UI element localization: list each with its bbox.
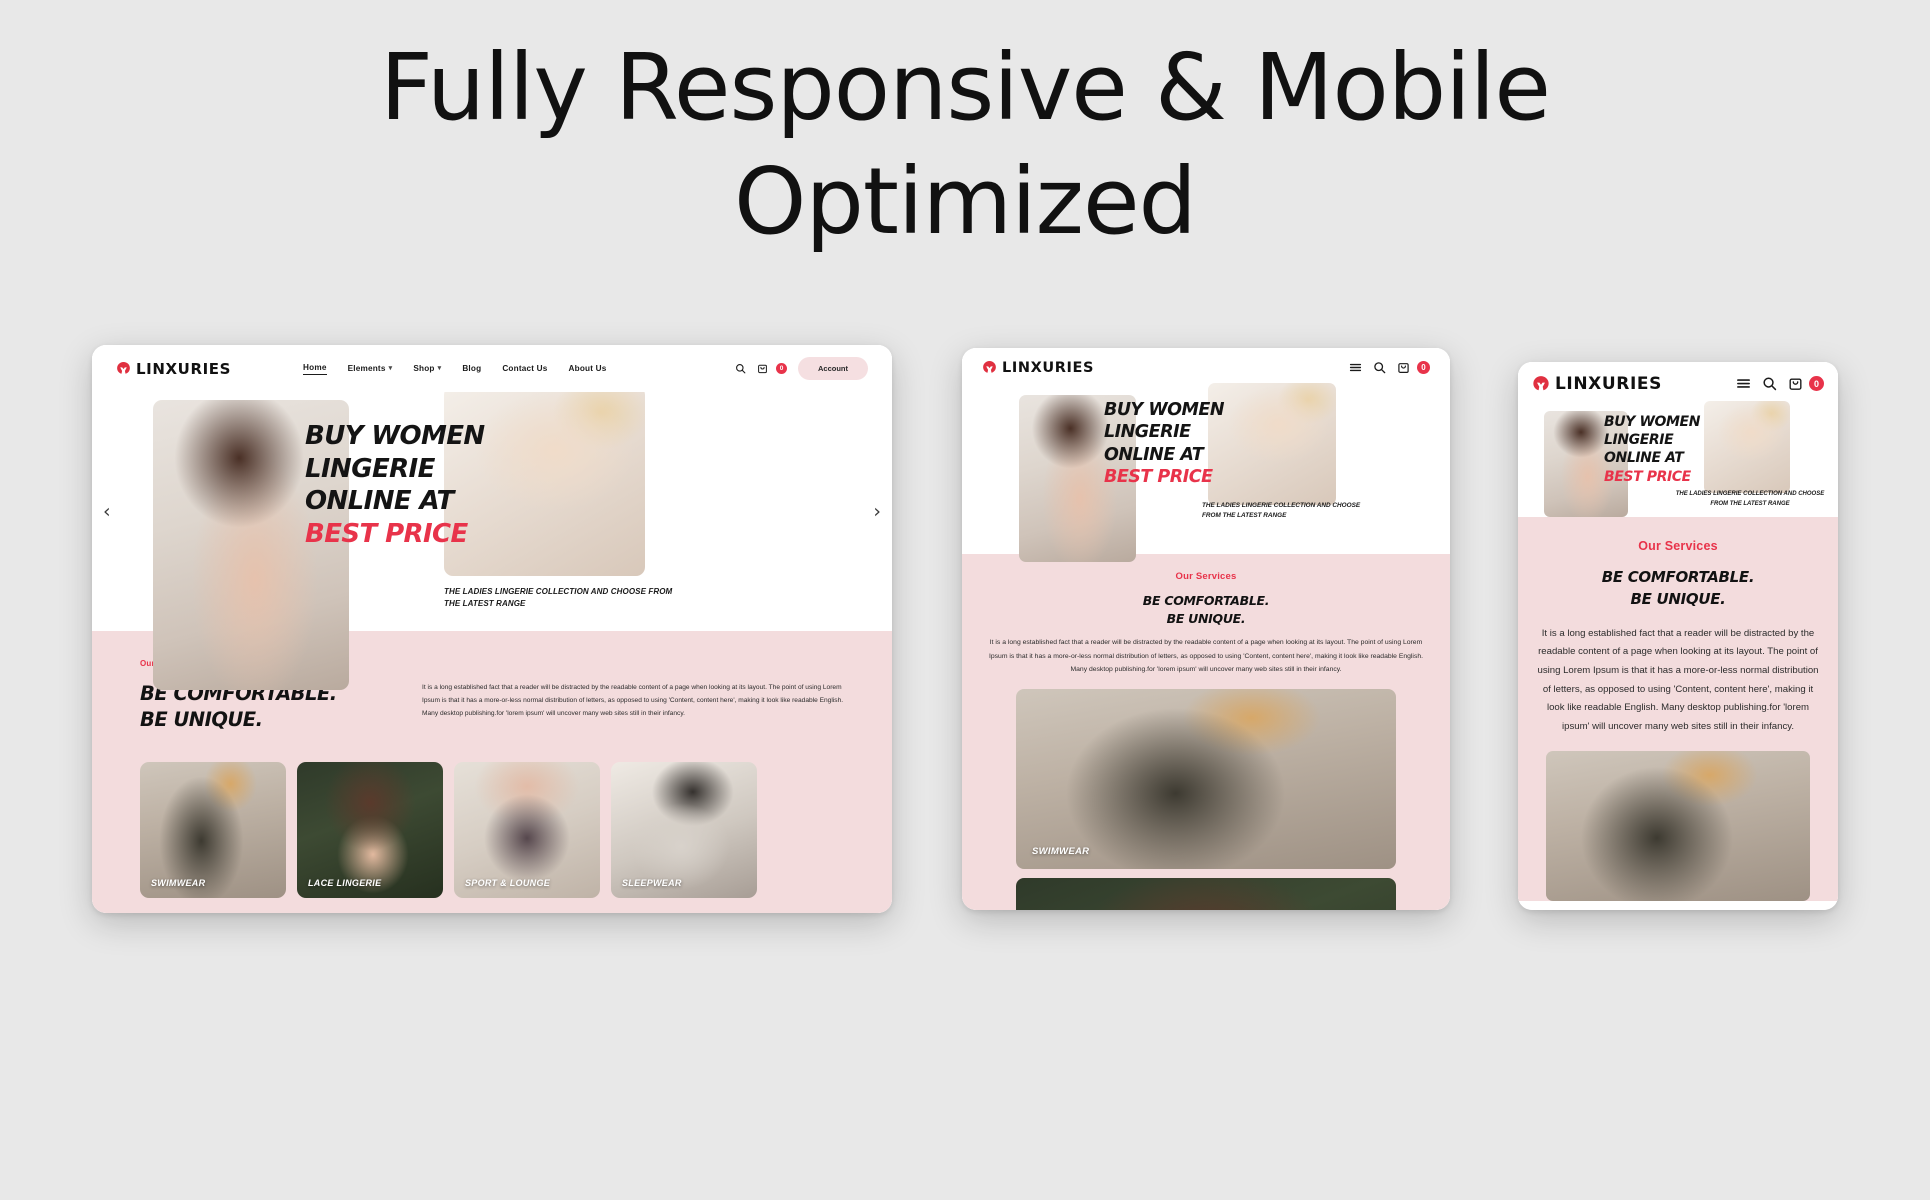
chevron-down-icon: ▾ (389, 365, 393, 372)
page-title-line-2: Optimized (0, 156, 1930, 248)
linxuries-mark-icon (982, 360, 997, 375)
services-heading-line-1: BE COMFORTABLE. (1143, 593, 1269, 608)
category-card-label: SWIMWEAR (151, 878, 205, 888)
search-icon[interactable] (735, 363, 746, 374)
search-icon[interactable] (1373, 361, 1386, 374)
page-title: Fully Responsive & Mobile Optimized (0, 42, 1930, 248)
hero-heading: BUY WOMEN LINGERIE ONLINE AT BEST PRICE (305, 420, 535, 550)
hero-line-2: LINGERIE (1104, 422, 1191, 442)
hero-line-3: ONLINE AT (1604, 450, 1683, 466)
cart-count-badge: 0 (1809, 376, 1824, 391)
category-card-lace-lingerie[interactable] (1016, 878, 1396, 910)
nav-item-blog[interactable]: Blog (462, 364, 481, 373)
mobile-navbar: LINXURIES 0 (1518, 362, 1838, 405)
brand-name: LINXURIES (1002, 360, 1094, 376)
mobile-mockup: LINXURIES 0 (1518, 362, 1838, 910)
hero-line-2: LINGERIE (1604, 432, 1673, 448)
services-heading-line-2: BE UNIQUE. (140, 708, 263, 731)
services-paragraph: It is a long established fact that a rea… (1534, 625, 1822, 737)
nav-item-contact-us[interactable]: Contact Us (502, 364, 547, 373)
category-card-label: SLEEPWEAR (622, 878, 682, 888)
nav-item-shop[interactable]: Shop▾ (413, 364, 441, 373)
category-card-swimwear[interactable]: SWIMWEAR (1016, 689, 1396, 869)
poster-canvas: Fully Responsive & Mobile Optimized LINX… (0, 0, 1930, 1200)
category-card-lace-lingerie[interactable]: LACE LINGERIE (297, 762, 443, 898)
hero-subtitle: THE LADIES LINGERIE COLLECTION AND CHOOS… (444, 586, 684, 611)
category-card-sleepwear[interactable]: SLEEPWEAR (611, 762, 757, 898)
category-card-label: SWIMWEAR (1032, 846, 1089, 857)
desktop-nav-menu: Home Elements▾ Shop▾ Blog Contact Us Abo… (303, 363, 606, 375)
services-paragraph: It is a long established fact that a rea… (422, 681, 844, 721)
category-card-label: LACE LINGERIE (308, 878, 381, 888)
tablet-nav-actions: 0 (1349, 361, 1430, 374)
hero-next-arrow[interactable]: › (873, 502, 881, 521)
category-card-swimwear[interactable] (1546, 751, 1810, 901)
chevron-down-icon: ▾ (438, 365, 442, 372)
desktop-mockup: LINXURIES Home Elements▾ Shop▾ Blog Cont… (92, 345, 892, 913)
brand-name: LINXURIES (136, 360, 231, 378)
tablet-screen: LINXURIES 0 (962, 348, 1450, 910)
mobile-screen: LINXURIES 0 (1518, 362, 1838, 910)
mobile-hero: BUY WOMEN LINGERIE ONLINE AT BEST PRICE … (1518, 405, 1838, 517)
shopping-bag-icon[interactable] (757, 363, 768, 374)
hero-subtitle: THE LADIES LINGERIE COLLECTION AND CHOOS… (1670, 490, 1830, 509)
category-card-sport-lounge[interactable]: SPORT & LOUNGE (454, 762, 600, 898)
tablet-hero: BUY WOMEN LINGERIE ONLINE AT BEST PRICE … (962, 387, 1450, 554)
hero-line-1: BUY WOMEN (1104, 400, 1224, 420)
hero-accent-line: BEST PRICE (1104, 467, 1213, 487)
desktop-screen: LINXURIES Home Elements▾ Shop▾ Blog Cont… (92, 345, 892, 913)
services-heading-line-2: BE UNIQUE. (1167, 611, 1246, 626)
search-icon[interactable] (1762, 376, 1777, 391)
page-title-line-1: Fully Responsive & Mobile (380, 34, 1550, 141)
brand-logo[interactable]: LINXURIES (116, 360, 231, 378)
nav-item-home[interactable]: Home (303, 363, 327, 375)
category-card-label: SPORT & LOUNGE (465, 878, 550, 888)
services-heading-line-2: BE UNIQUE. (1630, 590, 1725, 608)
services-paragraph: It is a long established fact that a rea… (986, 636, 1426, 677)
hero-line-2: LINGERIE (305, 454, 435, 484)
hero-subtitle: THE LADIES LINGERIE COLLECTION AND CHOOS… (1202, 501, 1377, 522)
shopping-bag-icon[interactable] (1397, 361, 1410, 374)
category-card-swimwear[interactable]: SWIMWEAR (140, 762, 286, 898)
tablet-mockup: LINXURIES 0 (962, 348, 1450, 910)
hero-accent-line: BEST PRICE (305, 519, 468, 549)
brand-name: LINXURIES (1555, 374, 1662, 394)
hero-prev-arrow[interactable]: ‹ (103, 502, 111, 521)
cart-count-badge: 0 (776, 363, 787, 374)
cart-count-badge: 0 (1417, 361, 1430, 374)
hero-heading: BUY WOMEN LINGERIE ONLINE AT BEST PRICE (1604, 413, 1724, 486)
desktop-navbar: LINXURIES Home Elements▾ Shop▾ Blog Cont… (92, 345, 892, 392)
hero-line-3: ONLINE AT (305, 486, 454, 516)
tablet-services-section: Our Services BE COMFORTABLE. BE UNIQUE. … (962, 554, 1450, 910)
hero-line-3: ONLINE AT (1104, 445, 1203, 465)
tablet-navbar: LINXURIES 0 (962, 348, 1450, 387)
linxuries-mark-icon (116, 361, 131, 376)
brand-logo[interactable]: LINXURIES (1532, 374, 1662, 394)
nav-item-about-us[interactable]: About Us (569, 364, 607, 373)
desktop-hero: ‹ › BUY WOMEN LINGERIE ONLINE AT BEST PR… (92, 392, 892, 631)
desktop-nav-actions: 0 Account (735, 357, 868, 380)
shopping-bag-icon[interactable] (1788, 376, 1803, 391)
hero-heading: BUY WOMEN LINGERIE ONLINE AT BEST PRICE (1104, 399, 1254, 489)
services-kicker: Our Services (1534, 539, 1822, 553)
hero-accent-line: BEST PRICE (1604, 469, 1691, 485)
services-heading-line-1: BE COMFORTABLE. (1602, 568, 1755, 586)
brand-logo[interactable]: LINXURIES (982, 360, 1094, 376)
nav-item-elements[interactable]: Elements▾ (348, 364, 393, 373)
services-kicker: Our Services (986, 571, 1426, 582)
hamburger-menu-icon[interactable] (1349, 361, 1362, 374)
linxuries-mark-icon (1532, 375, 1550, 393)
mobile-nav-actions: 0 (1736, 376, 1824, 391)
account-button[interactable]: Account (798, 357, 868, 380)
hero-line-1: BUY WOMEN (1604, 414, 1700, 430)
mobile-services-section: Our Services BE COMFORTABLE. BE UNIQUE. … (1518, 517, 1838, 901)
hamburger-menu-icon[interactable] (1736, 376, 1751, 391)
hero-line-1: BUY WOMEN (305, 421, 485, 451)
category-card-list (1534, 737, 1822, 901)
category-card-list: SWIMWEAR (986, 677, 1426, 910)
category-card-list: SWIMWEAR LACE LINGERIE SPORT & LOUNGE SL… (92, 734, 892, 898)
